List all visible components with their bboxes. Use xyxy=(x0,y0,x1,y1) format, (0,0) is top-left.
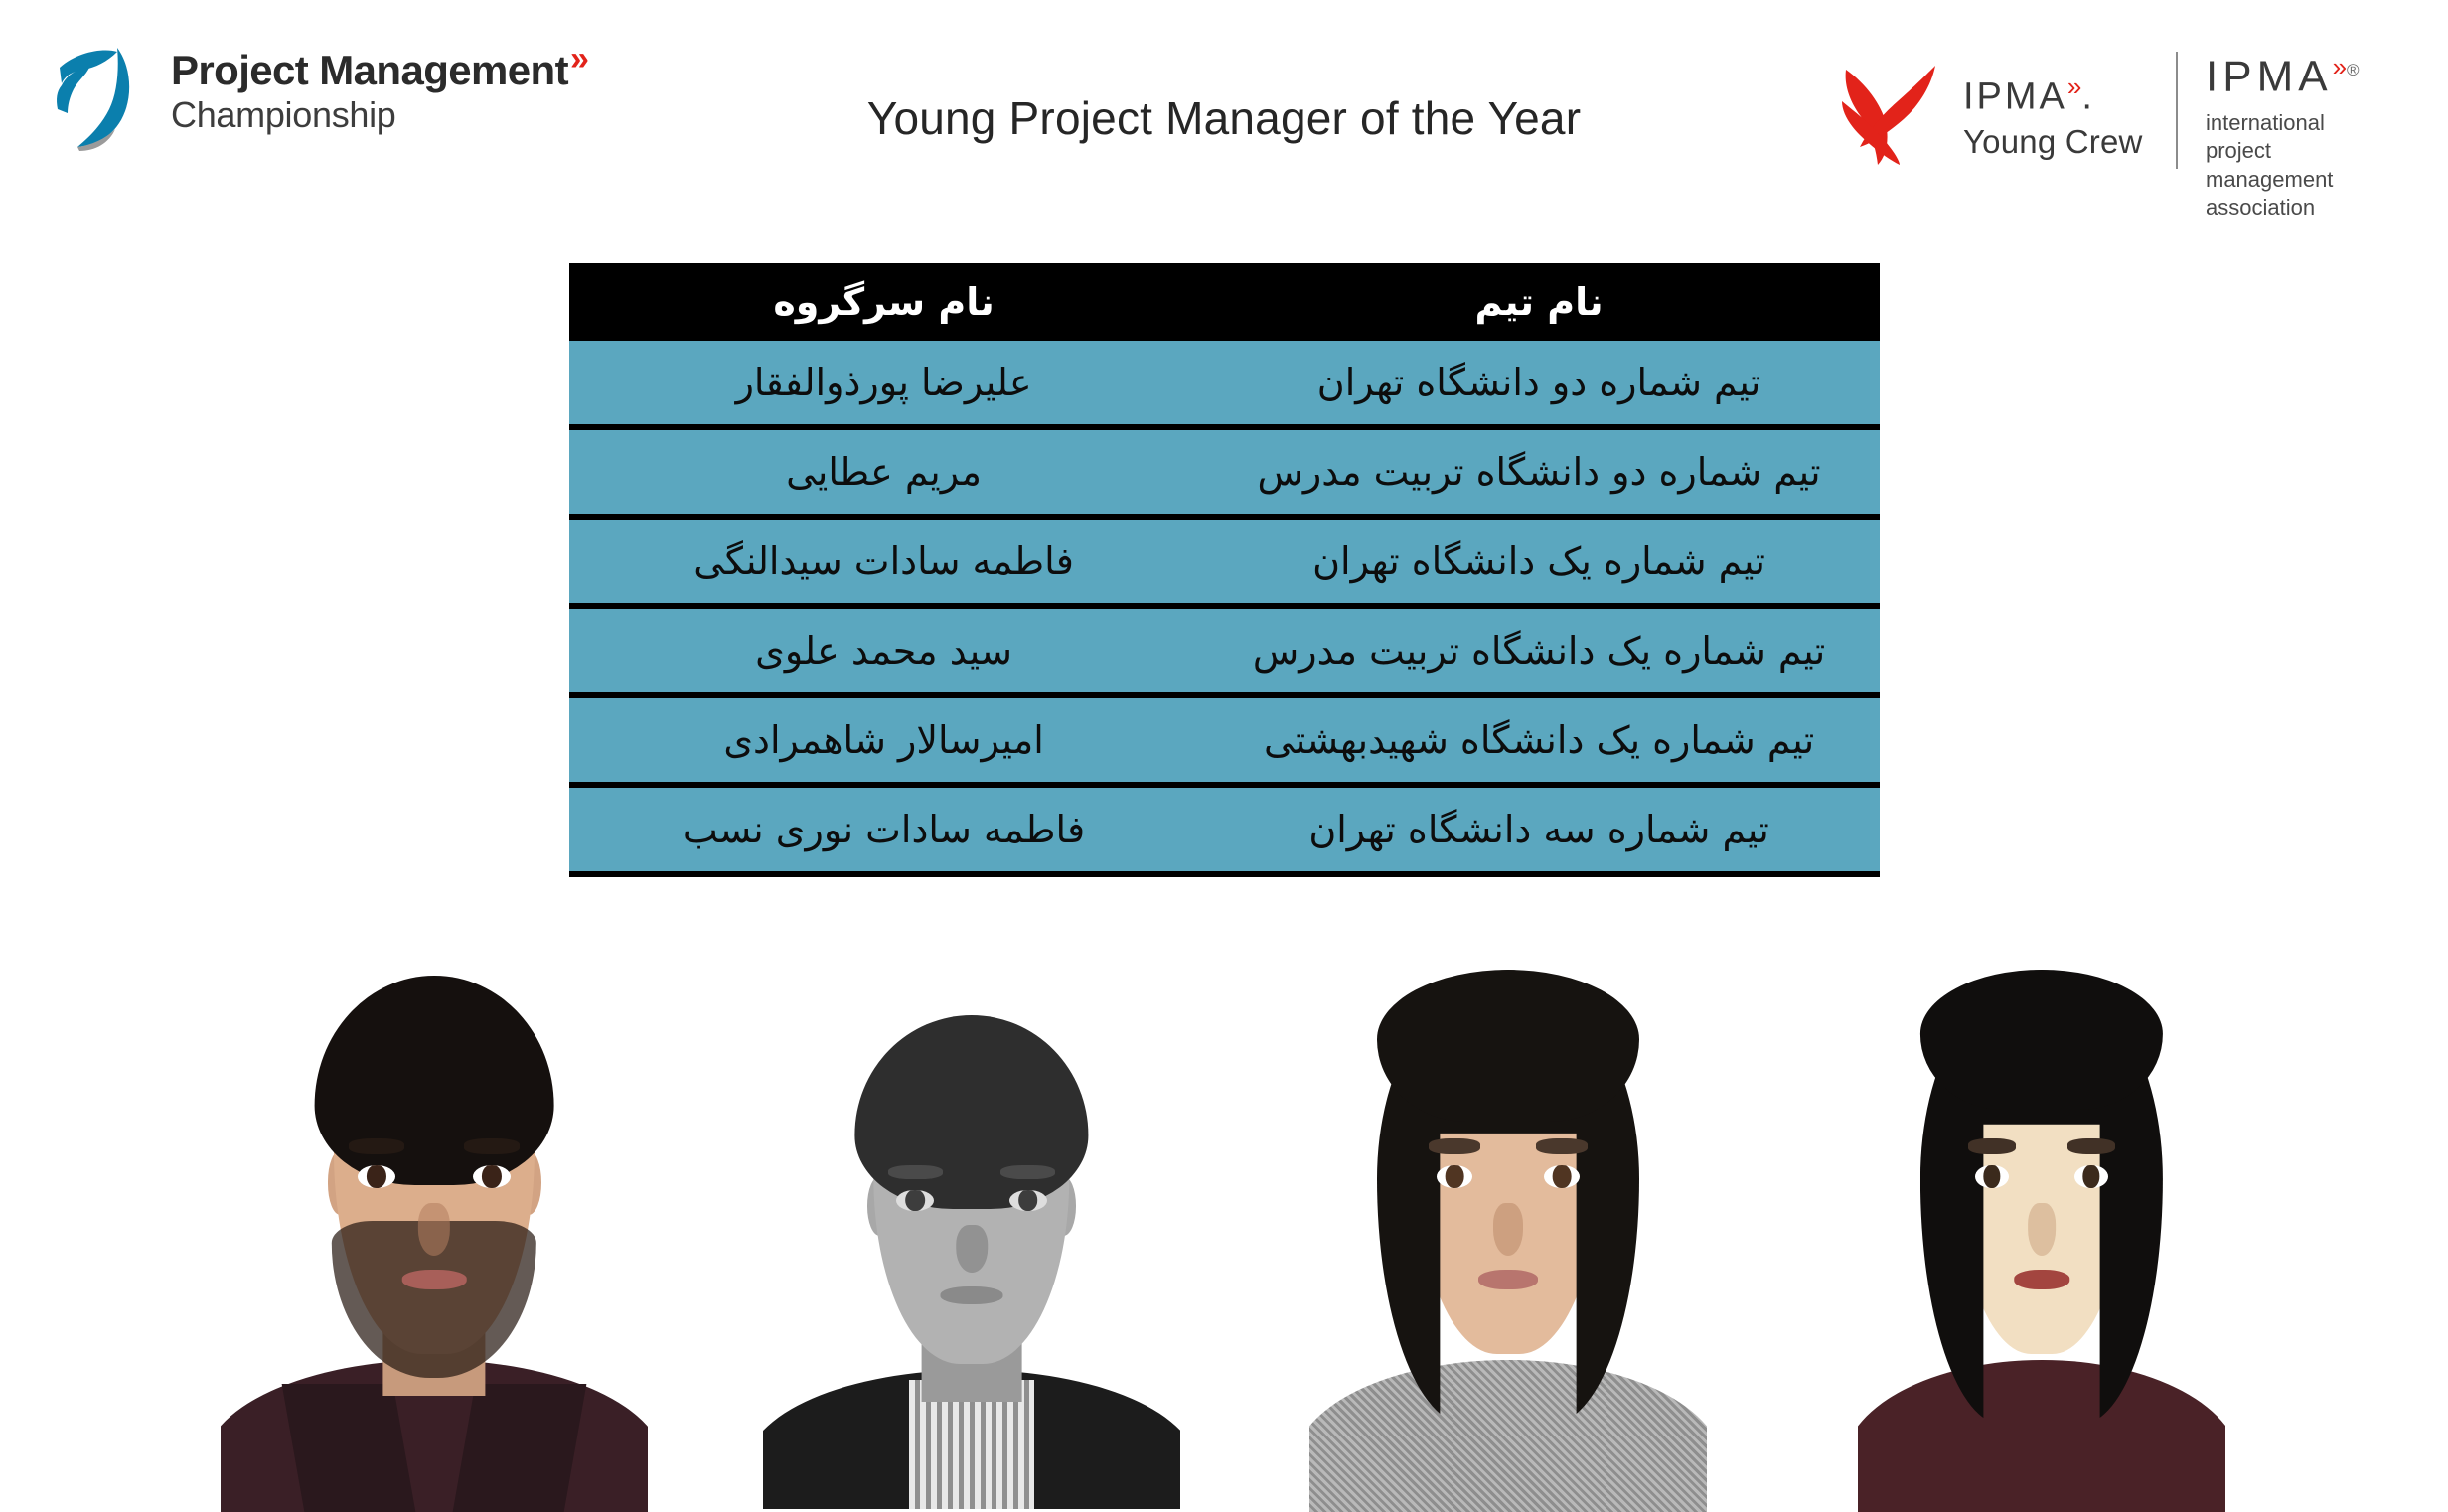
portrait-3-eyebrow-left xyxy=(1429,1138,1480,1153)
ipma-international-logo: IPMA»® international project management … xyxy=(2206,54,2360,223)
ipma-tagline-line1: international xyxy=(2206,109,2360,138)
portrait-1-figure xyxy=(221,929,648,1512)
participant-photos-row xyxy=(0,929,2448,1512)
portrait-1-iris-right xyxy=(482,1165,502,1188)
cell-team-name: تیم شماره دو دانشگاه تهران xyxy=(1198,341,1880,427)
portrait-1-collar-left xyxy=(282,1384,416,1512)
portrait-1-photo xyxy=(221,929,648,1512)
ipma-tagline-line2: project xyxy=(2206,137,2360,166)
logo-divider xyxy=(2176,52,2178,169)
portrait-1-collar-right xyxy=(453,1384,587,1512)
portrait-4-eye-left xyxy=(1975,1165,2008,1188)
ipma-logo-group: IPMA». Young Crew IPMA»® international p… xyxy=(1836,30,2432,169)
portrait-2-eye-right xyxy=(1009,1190,1047,1212)
portrait-3-iris-right xyxy=(1553,1165,1572,1188)
ipma-international-wordmark: IPMA»® xyxy=(2206,54,2360,99)
portrait-4-mouth xyxy=(2014,1270,2069,1289)
portrait-1-eyebrow-left xyxy=(349,1138,404,1153)
portrait-2-eyebrow-right xyxy=(1000,1165,1055,1179)
cell-leader-name: امیرسالار شاهمرادی xyxy=(569,695,1198,785)
portrait-2-photo xyxy=(763,973,1180,1509)
cell-team-name: تیم شماره یک دانشگاه شهیدبهشتی xyxy=(1198,695,1880,785)
cell-leader-name: سید محمد علوی xyxy=(569,606,1198,695)
ipma-tagline-line3: management xyxy=(2206,166,2360,195)
portrait-3-eye-right xyxy=(1544,1165,1580,1188)
portrait-4-photo xyxy=(1858,929,2225,1512)
portrait-1-hair xyxy=(315,976,554,1185)
cell-team-name: تیم شماره سه دانشگاه تهران xyxy=(1198,785,1880,874)
ipma-yc-dot: . xyxy=(2081,76,2095,118)
portrait-4-iris-left xyxy=(1983,1165,2000,1188)
ipma-intl-registered-icon: ® xyxy=(2347,61,2360,79)
portrait-4-eye-right xyxy=(2074,1165,2107,1188)
cell-team-name: تیم شماره دو دانشگاه تربیت مدرس xyxy=(1198,427,1880,517)
ipma-intl-wordmark-text: IPMA xyxy=(2206,53,2333,101)
portrait-3-photo xyxy=(1309,929,1707,1512)
ipma-international-tagline: international project management associa… xyxy=(2206,109,2360,223)
portrait-4-nose xyxy=(2028,1203,2056,1256)
table-row: تیم شماره یک دانشگاه تربیت مدرس سید محمد… xyxy=(569,606,1880,695)
portrait-2-figure xyxy=(763,973,1180,1509)
portrait-2-hair xyxy=(854,1015,1088,1208)
cell-team-name: تیم شماره یک دانشگاه تهران xyxy=(1198,517,1880,606)
ipma-young-crew-wordmark: IPMA». xyxy=(1963,74,2143,116)
portrait-2-eyebrow-left xyxy=(888,1165,943,1179)
portrait-1-iris-left xyxy=(367,1165,386,1188)
portrait-3-nose xyxy=(1493,1203,1523,1256)
portrait-2-nose xyxy=(956,1225,988,1274)
pmc-logo-line1: Project Management» xyxy=(171,42,638,91)
portrait-4-figure xyxy=(1858,929,2225,1512)
page-header: Project Management» Championship Young P… xyxy=(0,0,2448,199)
portrait-3-eyebrow-right xyxy=(1536,1138,1588,1153)
cell-leader-name: فاطمه سادات نوری نسب xyxy=(569,785,1198,874)
table-row: تیم شماره یک دانشگاه شهیدبهشتی امیرسالار… xyxy=(569,695,1880,785)
column-header-leader-name: نام سرگروه xyxy=(569,263,1198,341)
cell-leader-name: علیرضا پورذوالفقار xyxy=(569,341,1198,427)
pmc-logo-line1-text: Project Management xyxy=(171,47,568,93)
ipma-yc-chevron-icon: » xyxy=(2067,72,2081,101)
pmc-chevron-icon: » xyxy=(570,40,588,77)
table-body: تیم شماره دو دانشگاه تهران علیرضا پورذوا… xyxy=(569,341,1880,874)
portrait-3-mouth xyxy=(1478,1270,1538,1289)
portrait-3-iris-left xyxy=(1446,1165,1464,1188)
portrait-3-blazer xyxy=(1309,1360,1707,1512)
teams-roster-table: نام تیم نام سرگروه تیم شماره دو دانشگاه … xyxy=(569,263,1880,877)
table-header-row: نام تیم نام سرگروه xyxy=(569,263,1880,341)
cell-leader-name: فاطمه سادات سیدالنگی xyxy=(569,517,1198,606)
cell-team-name: تیم شماره یک دانشگاه تربیت مدرس xyxy=(1198,606,1880,695)
portrait-1-mouth xyxy=(402,1270,467,1289)
ipma-tagline-line4: association xyxy=(2206,194,2360,223)
ipma-young-crew-butterfly-icon xyxy=(1836,62,1945,167)
portrait-4-eyebrow-left xyxy=(1968,1138,2016,1153)
column-header-team-name: نام تیم xyxy=(1198,263,1880,341)
ipma-intl-chevron-icon: » xyxy=(2333,52,2347,81)
portrait-4-eyebrow-right xyxy=(2067,1138,2115,1153)
ipma-young-crew-text: IPMA». Young Crew xyxy=(1963,74,2143,161)
portrait-3-eye-left xyxy=(1437,1165,1472,1188)
portrait-2-iris-right xyxy=(1018,1190,1038,1212)
ipma-yc-wordmark-text: IPMA xyxy=(1963,76,2067,118)
portrait-4-top xyxy=(1858,1360,2225,1512)
table-row: تیم شماره دو دانشگاه تربیت مدرس مریم عطا… xyxy=(569,427,1880,517)
portrait-1-nose xyxy=(418,1203,450,1256)
portrait-2-mouth xyxy=(941,1286,1003,1304)
ipma-young-crew-subtitle: Young Crew xyxy=(1963,123,2143,161)
table-row: تیم شماره یک دانشگاه تهران فاطمه سادات س… xyxy=(569,517,1880,606)
portrait-2-iris-left xyxy=(905,1190,925,1212)
cell-leader-name: مریم عطایی xyxy=(569,427,1198,517)
portrait-3-figure xyxy=(1309,929,1707,1512)
portrait-4-iris-right xyxy=(2082,1165,2099,1188)
portrait-3-hijab-crown xyxy=(1377,970,1639,1122)
table-row: تیم شماره دو دانشگاه تهران علیرضا پورذوا… xyxy=(569,341,1880,427)
portrait-4-hijab-crown xyxy=(1920,970,2163,1110)
table-row: تیم شماره سه دانشگاه تهران فاطمه سادات ن… xyxy=(569,785,1880,874)
portrait-1-eyebrow-right xyxy=(464,1138,520,1153)
